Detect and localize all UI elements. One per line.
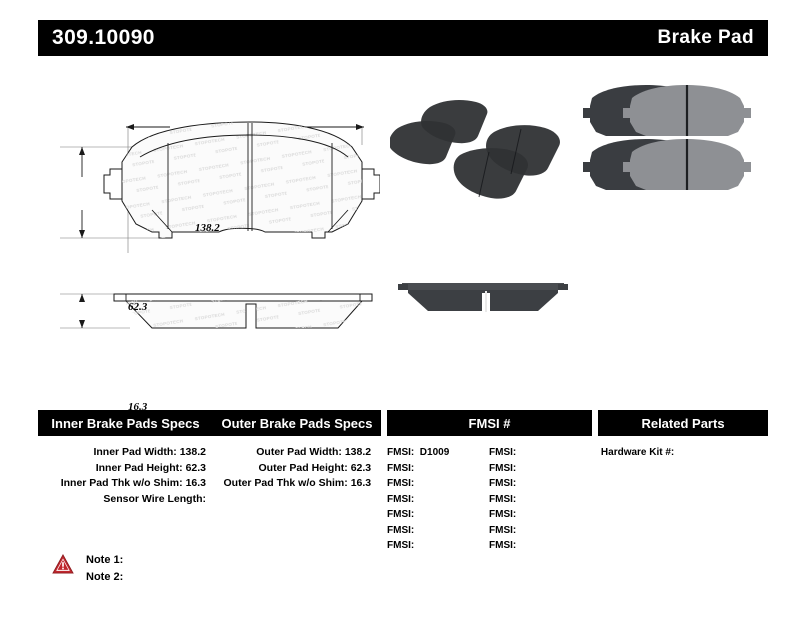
spec-value: 16.3 (351, 477, 371, 489)
spec-label: Inner Pad Width: (93, 446, 176, 458)
spec-value: 138.2 (180, 446, 206, 458)
spec-label: Inner Pad Thk w/o Shim: (61, 477, 183, 489)
dimension-width-label: 138.2 (195, 222, 220, 234)
spec-label: Outer Pad Height: (259, 462, 348, 474)
fmsi-value: D1009 (420, 447, 449, 458)
table-row: FMSI: (483, 492, 585, 508)
fmsi-label: FMSI: (489, 540, 516, 551)
table-row: Inner Pad Width: 138.2 (38, 445, 210, 461)
dimension-height-label: 62.3 (128, 301, 147, 313)
fmsi-column: FMSI: D1009 FMSI: FMSI: FMSI: FMSI: FMSI… (381, 445, 585, 554)
spec-label: Sensor Wire Length: (103, 493, 206, 505)
table-row: FMSI: (483, 461, 585, 477)
spec-label: Outer Pad Thk w/o Shim: (224, 477, 348, 489)
fmsi-label: FMSI: (489, 494, 516, 505)
note-2: Note 2: (86, 569, 123, 586)
spec-value: 62.3 (351, 462, 371, 474)
header-related-parts: Related Parts (598, 410, 768, 436)
related-parts-column: Hardware Kit #: (591, 445, 768, 554)
header-fmsi: FMSI # (387, 410, 592, 436)
table-row: FMSI: (381, 523, 483, 539)
fmsi-label: FMSI: (387, 540, 414, 551)
fmsi-label: FMSI: (387, 509, 414, 520)
table-row: FMSI: (483, 507, 585, 523)
table-row: FMSI: D1009 (381, 445, 483, 461)
fmsi-label: FMSI: (387, 494, 414, 505)
pad-side-view (60, 280, 380, 350)
hardware-kit-label: Hardware Kit #: (601, 447, 674, 458)
product-photos (390, 75, 770, 345)
warning-triangle-icon (52, 554, 74, 574)
table-row: FMSI: (381, 538, 483, 554)
table-row: Hardware Kit #: (601, 445, 768, 461)
table-row: Sensor Wire Length: (38, 492, 210, 508)
inner-specs-column: Inner Pad Width: 138.2 Inner Pad Height:… (38, 445, 210, 554)
fmsi-subcolumn-left: FMSI: D1009 FMSI: FMSI: FMSI: FMSI: FMSI… (381, 445, 483, 554)
table-row: Inner Pad Thk w/o Shim: 16.3 (38, 476, 210, 492)
fmsi-label: FMSI: (387, 463, 414, 474)
engineering-drawing: STOPOTECH STOPOTECH (60, 105, 380, 350)
fmsi-label: FMSI: (387, 447, 414, 458)
spec-label: Outer Pad Width: (256, 446, 342, 458)
header-inner-specs: Inner Brake Pads Specs (38, 410, 213, 436)
spec-label: Inner Pad Height: (96, 462, 183, 474)
spec-table-header-row: Inner Brake Pads Specs Outer Brake Pads … (38, 410, 768, 436)
table-row: Outer Pad Thk w/o Shim: 16.3 (210, 476, 375, 492)
photo-pads-angled (390, 80, 590, 205)
table-row: FMSI: (483, 523, 585, 539)
outer-specs-column: Outer Pad Width: 138.2 Outer Pad Height:… (210, 445, 375, 554)
table-row: FMSI: (483, 445, 585, 461)
table-row: FMSI: (483, 538, 585, 554)
photo-pads-flat (570, 80, 760, 205)
fmsi-label: FMSI: (489, 509, 516, 520)
spec-table-body: Inner Pad Width: 138.2 Inner Pad Height:… (38, 436, 768, 554)
photo-pad-edge (398, 271, 568, 331)
fmsi-subcolumn-right: FMSI: FMSI: FMSI: FMSI: FMSI: FMSI: FMSI… (483, 445, 585, 554)
table-row: FMSI: (381, 476, 483, 492)
notes-lines: Note 1: Note 2: (86, 552, 123, 586)
fmsi-label: FMSI: (489, 478, 516, 489)
fmsi-label: FMSI: (489, 447, 516, 458)
fmsi-label: FMSI: (489, 525, 516, 536)
table-row: FMSI: (381, 461, 483, 477)
header-outer-specs: Outer Brake Pads Specs (213, 410, 381, 436)
header-bar: 309.10090 Brake Pad (38, 20, 768, 56)
fmsi-label: FMSI: (489, 463, 516, 474)
fmsi-label: FMSI: (387, 478, 414, 489)
spec-value: 138.2 (345, 446, 371, 458)
table-row: FMSI: (381, 492, 483, 508)
spec-value: 62.3 (186, 462, 206, 474)
table-row: FMSI: (483, 476, 585, 492)
table-row: Outer Pad Width: 138.2 (210, 445, 375, 461)
part-number: 309.10090 (52, 26, 155, 50)
pad-top-view: STOPOTECH STOPOTECH (60, 105, 380, 255)
table-row: Outer Pad Height: 62.3 (210, 461, 375, 477)
spec-table: Inner Brake Pads Specs Outer Brake Pads … (38, 410, 768, 554)
note-1: Note 1: (86, 552, 123, 569)
fmsi-label: FMSI: (387, 525, 414, 536)
table-row: Inner Pad Height: 62.3 (38, 461, 210, 477)
product-name: Brake Pad (657, 27, 754, 49)
notes-section: Note 1: Note 2: (52, 552, 123, 586)
spec-value: 16.3 (186, 477, 206, 489)
table-row: FMSI: (381, 507, 483, 523)
